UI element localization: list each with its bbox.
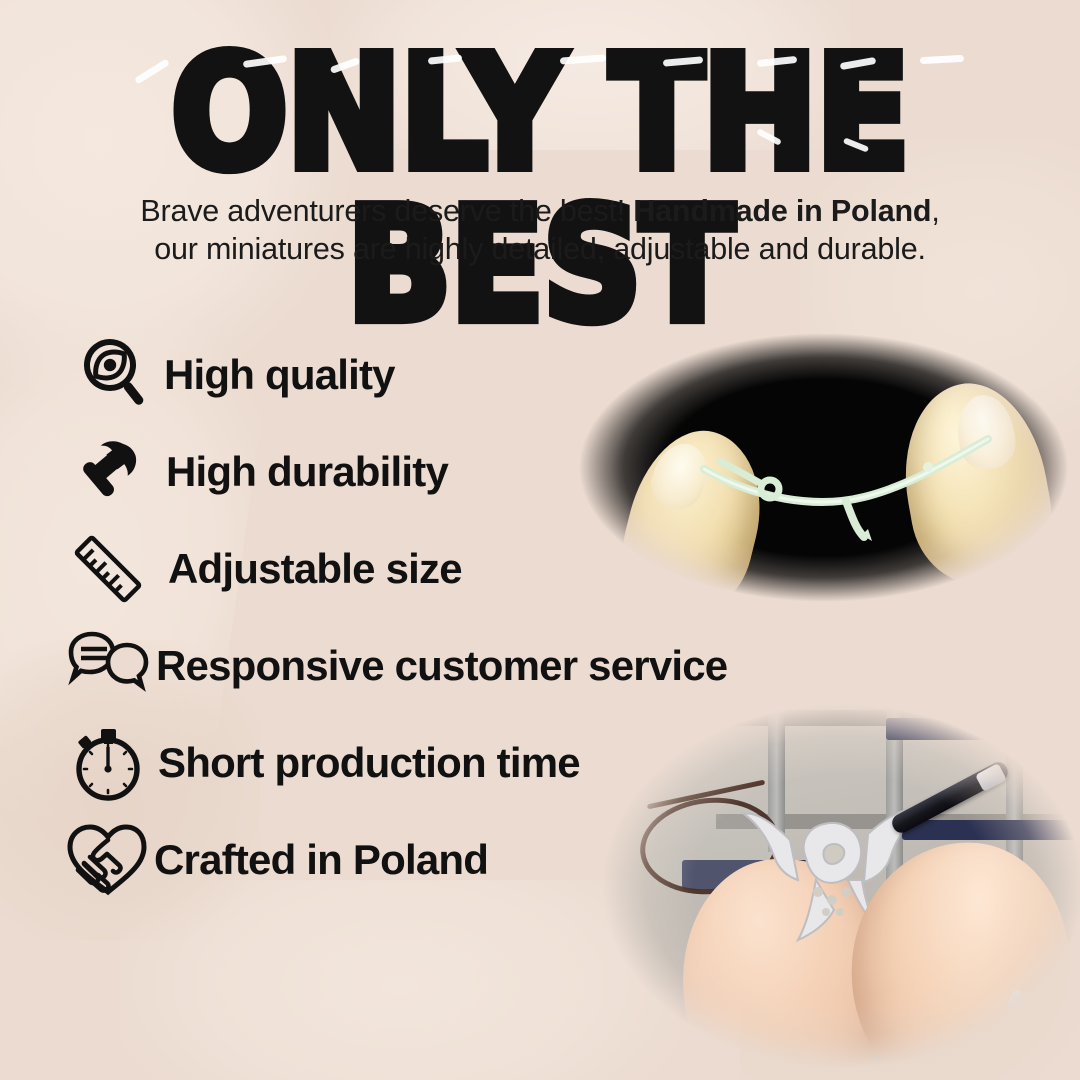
magnifier-eye-icon — [62, 329, 154, 421]
promo-poster: ONLY THE BEST Brave adventurers deserve … — [0, 0, 1080, 1080]
list-item-label: Short production time — [158, 739, 580, 787]
stopwatch-icon — [62, 717, 154, 809]
hammer-icon — [62, 426, 154, 518]
torn-edge-mask — [546, 315, 1080, 620]
workshop-painting-miniature-photo — [586, 692, 1080, 1080]
fingers-holding-miniature-photo — [546, 315, 1080, 620]
list-item-label: High durability — [166, 448, 448, 496]
subtitle-lead: Brave adventurers deserve the best! — [140, 194, 625, 228]
subtitle-line2: our miniatures are highly detailed, adju… — [154, 232, 926, 266]
miniature-part — [696, 425, 996, 545]
subtitle: Brave adventurers deserve the best! Hand… — [0, 192, 1080, 268]
list-item-label: High quality — [164, 351, 395, 399]
torn-edge-mask — [586, 692, 1080, 1080]
parts-tray — [886, 718, 1056, 740]
list-item-label: Responsive customer service — [156, 642, 727, 690]
subtitle-highlight: Handmade in Poland — [633, 194, 931, 228]
list-item-label: Adjustable size — [168, 545, 462, 593]
subtitle-tail: , — [931, 194, 939, 228]
heart-handshake-icon — [62, 814, 154, 906]
ruler-icon — [62, 523, 154, 615]
list-item-label: Crafted in Poland — [154, 836, 488, 884]
speech-bubbles-icon — [62, 620, 154, 712]
page-title: ONLY THE BEST — [0, 38, 1080, 343]
